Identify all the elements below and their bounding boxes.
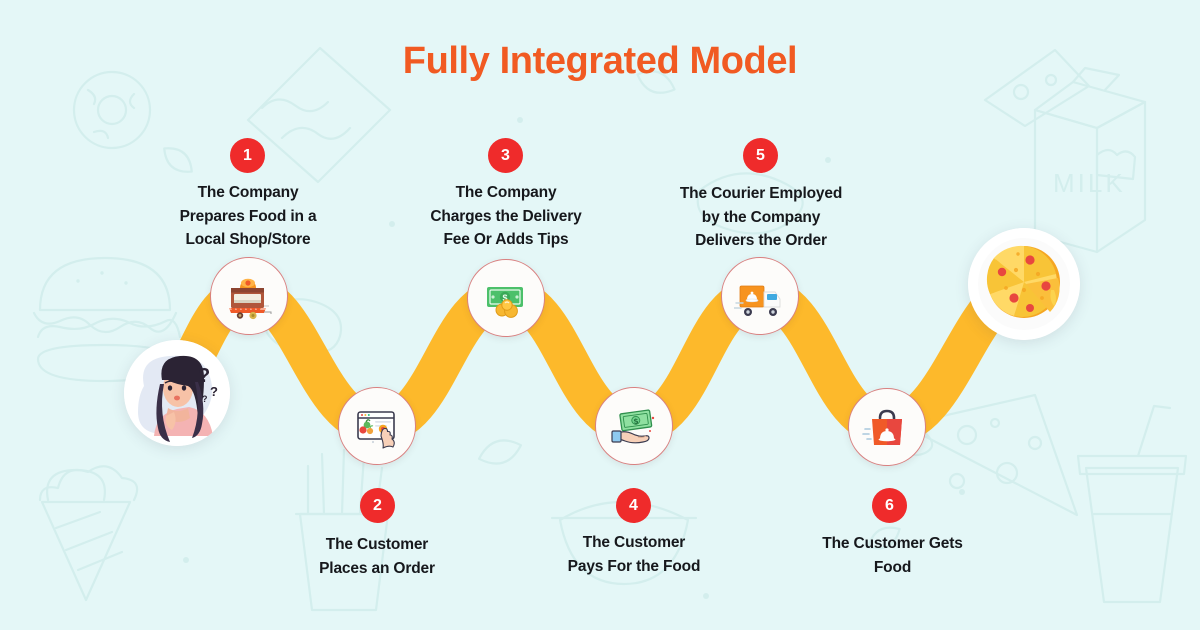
caption-line: Prepares Food in a	[148, 205, 348, 229]
caption-line: Delivers the Order	[656, 229, 866, 253]
caption-line: The Courier Employed	[656, 182, 866, 206]
svg-text:?: ?	[210, 384, 218, 399]
step-caption-2: The Customer Places an Order	[277, 533, 477, 580]
step-badge-5: 5	[743, 138, 778, 173]
food-truck-icon	[223, 270, 275, 322]
step-badge-6: 6	[872, 488, 907, 523]
caption-line: by the Company	[656, 206, 866, 230]
step-caption-1: The Company Prepares Food in a Local Sho…	[148, 181, 348, 252]
step-number-1: 1	[243, 148, 252, 164]
caption-line: Local Shop/Store	[148, 228, 348, 252]
caption-line: Pays For the Food	[534, 555, 734, 579]
online-order-screen-icon	[351, 400, 403, 452]
step-badge-4: 4	[616, 488, 651, 523]
caption-line: The Customer	[277, 533, 477, 557]
page-title: Fully Integrated Model	[0, 40, 1200, 83]
step-node-5[interactable]	[721, 257, 799, 335]
step-node-2[interactable]	[338, 387, 416, 465]
step-number-4: 4	[629, 498, 638, 514]
step-caption-4: The Customer Pays For the Food	[534, 531, 734, 578]
pizza-plate-icon	[968, 228, 1080, 340]
step-node-1[interactable]	[210, 257, 288, 335]
step-caption-6: The Customer Gets Food	[790, 532, 995, 579]
caption-line: The Customer	[534, 531, 734, 555]
step-badge-2: 2	[360, 488, 395, 523]
caption-line: The Customer Gets	[790, 532, 995, 556]
thinking-customer-avatar: ? ? ?	[124, 340, 230, 446]
cash-and-coins-icon: $	[480, 272, 532, 324]
thinking-customer-icon: ? ? ?	[124, 340, 230, 446]
step-badge-3: 3	[488, 138, 523, 173]
step-node-3[interactable]: $	[467, 259, 545, 337]
svg-text:?: ?	[198, 365, 210, 387]
pizza-plate-avatar	[968, 228, 1080, 340]
caption-line: The Company	[148, 181, 348, 205]
hand-holding-money-icon: $	[608, 400, 660, 452]
step-node-6[interactable]	[848, 388, 926, 466]
step-caption-3: The Company Charges the Delivery Fee Or …	[406, 181, 606, 252]
caption-line: Charges the Delivery	[406, 205, 606, 229]
step-node-4[interactable]: $	[595, 387, 673, 465]
step-number-6: 6	[885, 498, 894, 514]
delivery-truck-icon	[734, 270, 786, 322]
caption-line: Food	[790, 556, 995, 580]
caption-line: Fee Or Adds Tips	[406, 228, 606, 252]
step-number-3: 3	[501, 148, 510, 164]
step-badge-1: 1	[230, 138, 265, 173]
svg-text:?: ?	[202, 394, 208, 404]
caption-line: Places an Order	[277, 557, 477, 581]
caption-line: The Company	[406, 181, 606, 205]
step-number-2: 2	[373, 498, 382, 514]
shopping-bag-food-icon	[861, 401, 913, 453]
infographic-canvas: MILK	[0, 0, 1200, 630]
step-caption-5: The Courier Employed by the Company Deli…	[656, 182, 866, 253]
step-number-5: 5	[756, 148, 765, 164]
